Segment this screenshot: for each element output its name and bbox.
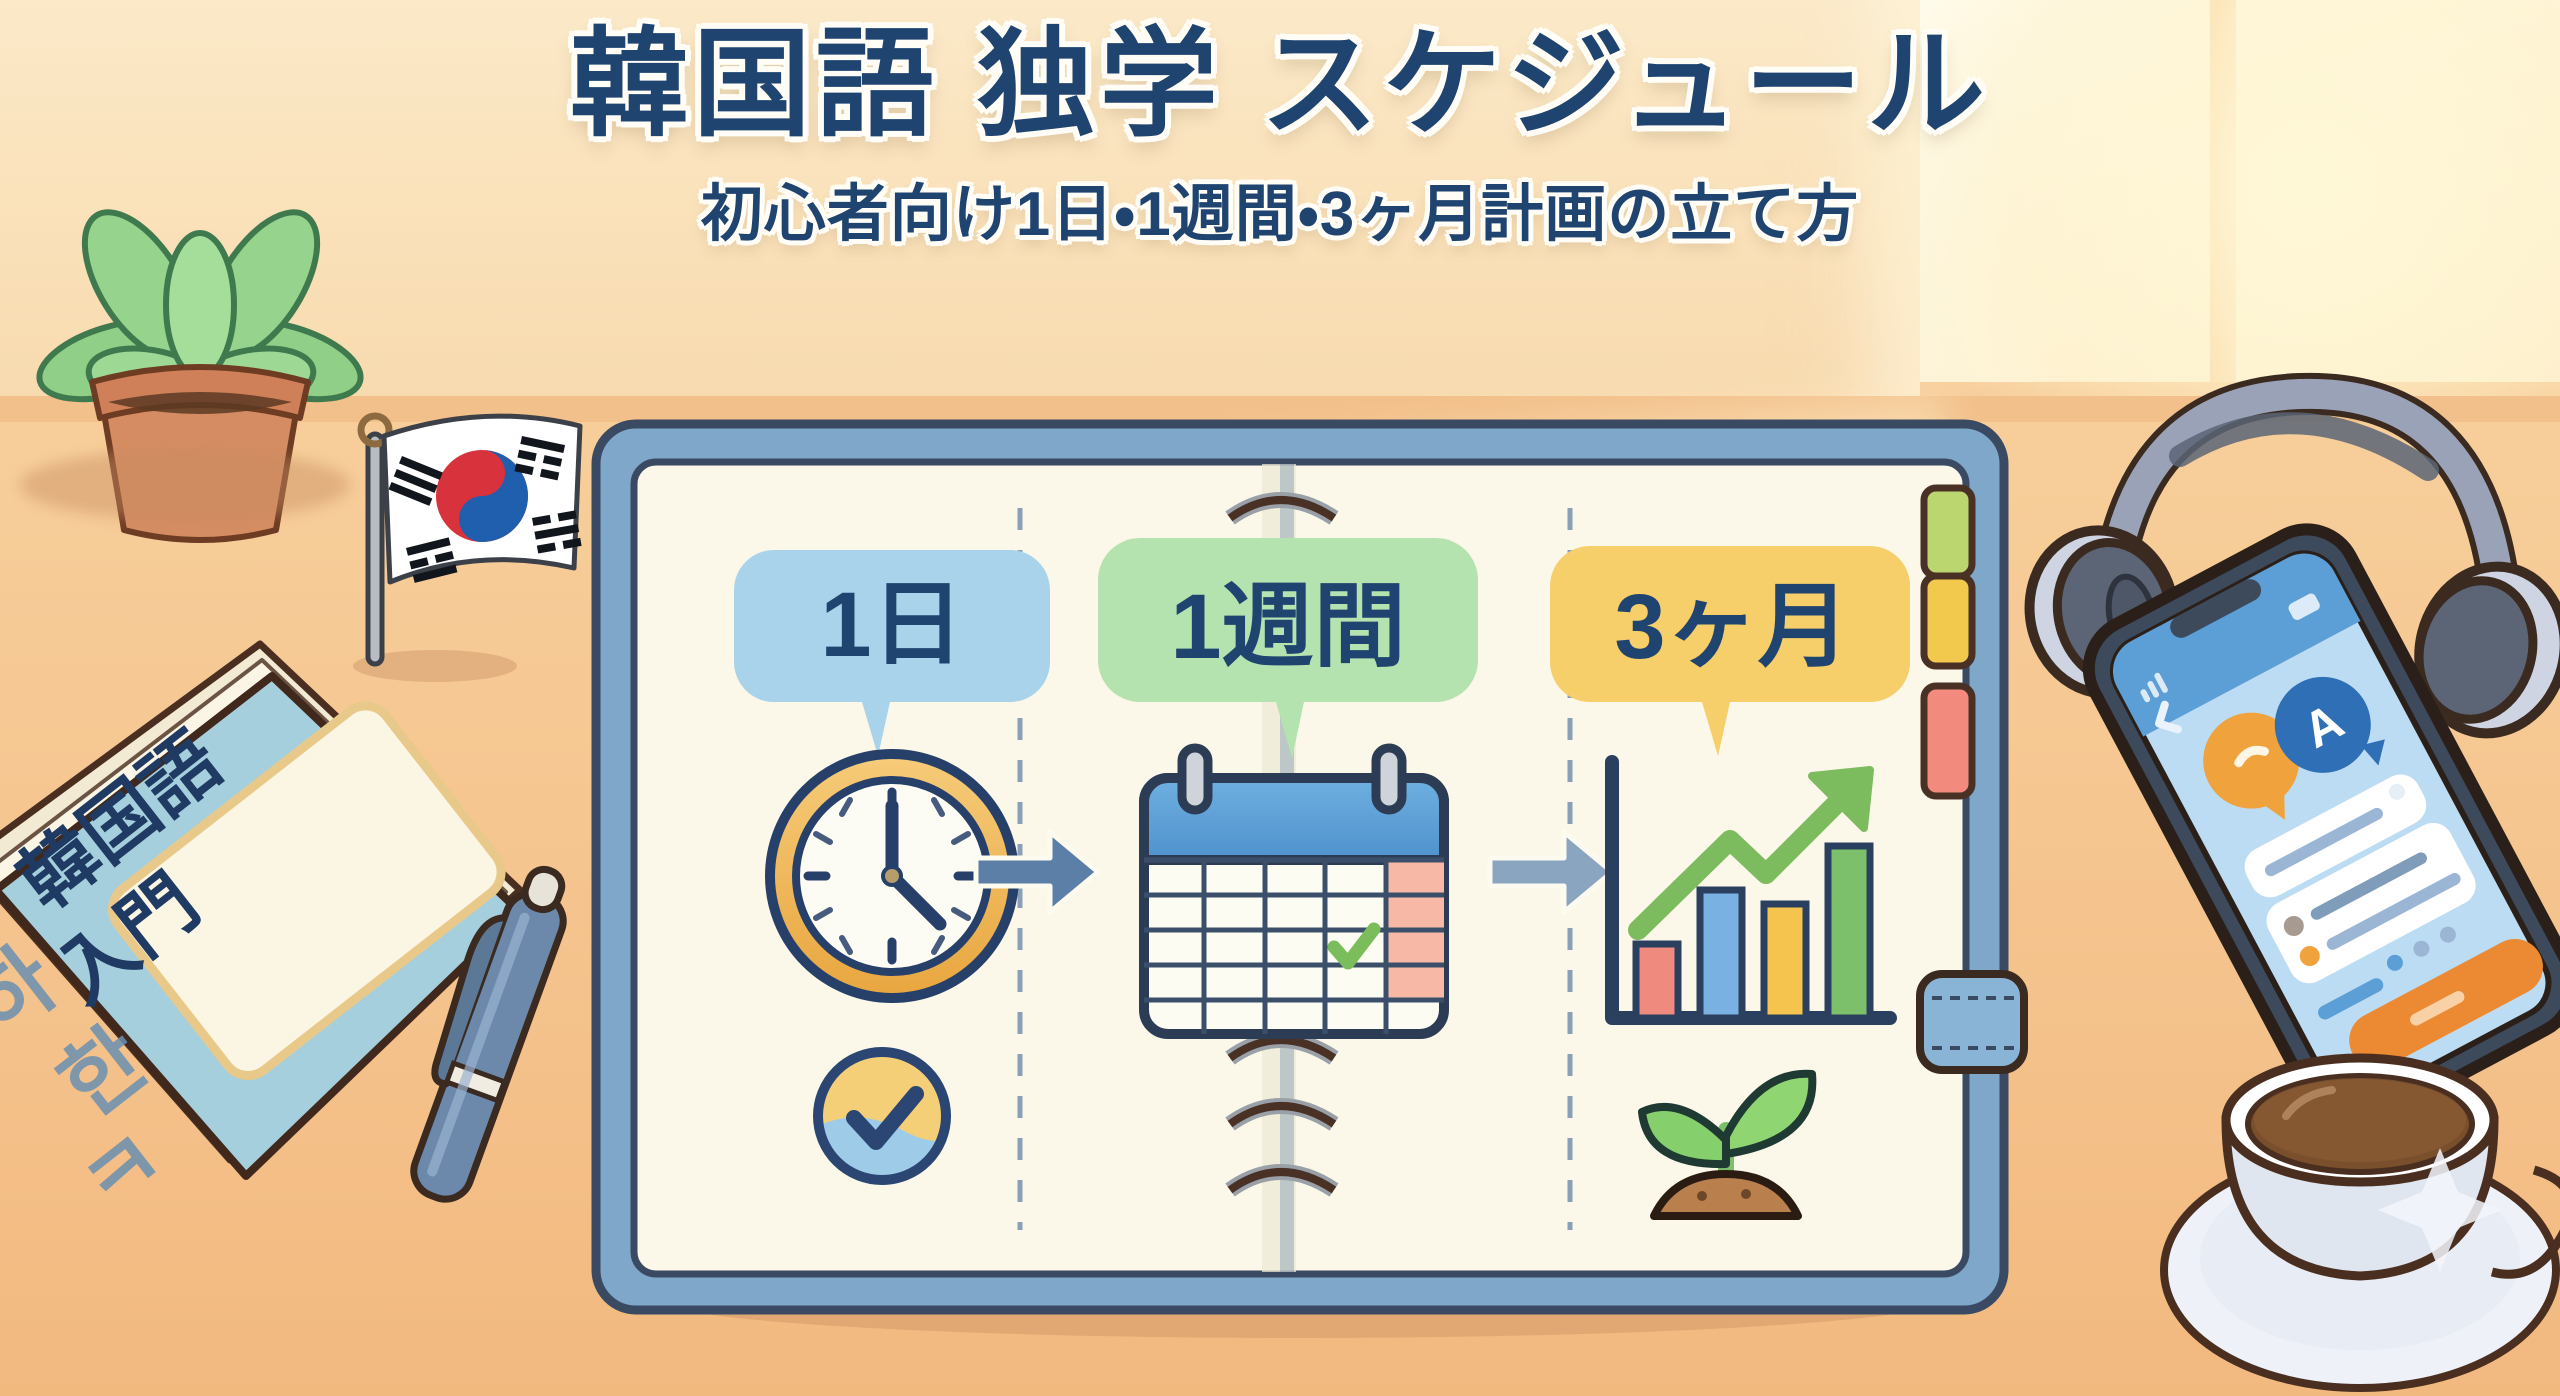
bar-4 [1828,846,1870,1018]
badge-one-day-label: 1日 [820,574,963,676]
bar-2 [1700,890,1742,1018]
calendar-icon [1144,748,1444,1034]
audio-illustration: A [2040,350,2560,1050]
bar-1 [1636,944,1678,1018]
tab-green [1924,488,1972,576]
badge-three-months-label: 3ヶ月 [1614,576,1849,678]
calendar-ring-left [1182,748,1208,810]
badge-one-week-label: 1週間 [1170,576,1405,678]
page-title: 韓国語 独学 スケジュール [0,22,2560,149]
bar-3 [1764,904,1806,1018]
flag-illustration [340,398,610,688]
page-subtitle: 初心者向け1日・1週間・3ヶ月計画の立て方 [0,163,2560,253]
pen-illustration [380,840,610,1240]
coffee-illustration [2170,1020,2560,1396]
south-korea-flag [340,398,610,688]
ballpoint-pen [380,840,610,1240]
coffee-cup [2170,1020,2560,1396]
open-planner-notebook: 1日 1週間 3ヶ月 [590,418,2010,1328]
notebook-illustration: 1日 1週間 3ヶ月 [590,418,2010,1328]
illustration-canvas: 韓国語 独学 スケジュール 初心者向け1日・1週間・3ヶ月計画の立て方 [0,0,2560,1396]
phone-and-headphones: A [2040,350,2560,1050]
elastic-strap [1920,974,2024,1070]
index-tabs [1924,488,1972,796]
tab-red [1924,686,1972,796]
plant-shadow [20,450,350,520]
header-block: 韓国語 独学 スケジュール 初心者向け1日・1週間・3ヶ月計画の立て方 [0,22,2560,253]
tab-yellow [1924,576,1972,666]
calendar-ring-right [1376,748,1402,810]
